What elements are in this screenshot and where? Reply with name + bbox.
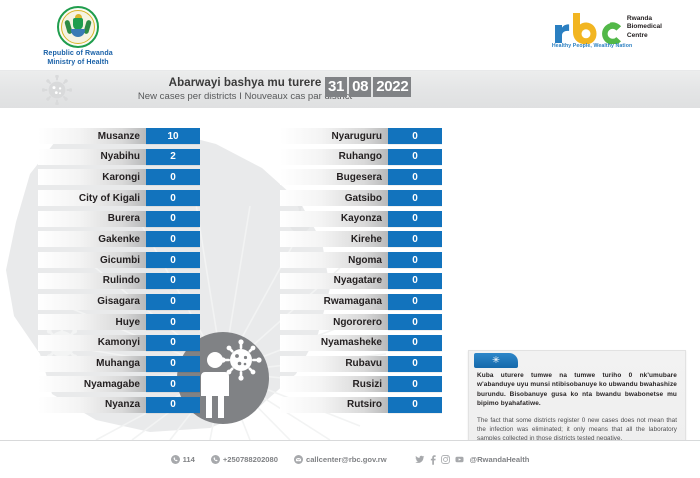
table-row[interactable]: Ruhango 0 [280, 149, 442, 165]
phone-icon [171, 455, 180, 464]
rbc-tagline: Healthy People, Wealthy Nation [552, 43, 632, 49]
main-content: Musanze 10 Nyabihu 2 Karongi 0 City of K… [0, 108, 700, 440]
district-value: 0 [146, 252, 200, 268]
district-name: Ngoma [280, 252, 388, 268]
district-name: Nyagatare [280, 273, 388, 289]
table-row[interactable]: Gicumbi 0 [38, 252, 200, 268]
district-value: 2 [146, 149, 200, 165]
table-row[interactable]: Nyamasheke 0 [280, 335, 442, 351]
table-row[interactable]: Rulindo 0 [38, 273, 200, 289]
table-row[interactable]: Nyabihu 2 [38, 149, 200, 165]
instagram-icon[interactable] [441, 455, 450, 464]
facebook-icon[interactable] [430, 455, 436, 465]
district-name: Nyamasheke [280, 335, 388, 351]
district-name: City of Kigali [38, 190, 146, 206]
social-links: @RwandaHealth [415, 455, 530, 465]
district-value: 0 [388, 356, 442, 372]
district-name: Ngororero [280, 314, 388, 330]
district-value: 0 [146, 314, 200, 330]
district-name: Muhanga [38, 356, 146, 372]
ministry-of-health-logo: Republic of Rwanda Ministry of Health [33, 6, 123, 67]
district-name: Nyabihu [38, 149, 146, 165]
table-row[interactable]: Gakenke 0 [38, 231, 200, 247]
rbc-logo-icon: Healthy People, Wealthy Nation [551, 12, 623, 50]
rbc-name-line3: Centre [627, 32, 662, 40]
table-row[interactable]: Kayonza 0 [280, 211, 442, 227]
rbc-logo: Healthy People, Wealthy Nation Rwanda Bi… [551, 12, 662, 58]
district-value: 0 [388, 190, 442, 206]
rbc-name: Rwanda Biomedical Centre [627, 12, 662, 40]
district-name: Gicumbi [38, 252, 146, 268]
table-row[interactable]: Burera 0 [38, 211, 200, 227]
table-row[interactable]: Rubavu 0 [280, 356, 442, 372]
district-value: 0 [388, 169, 442, 185]
phone-contact[interactable]: +250788202080 [211, 455, 278, 464]
table-row[interactable]: Kirehe 0 [280, 231, 442, 247]
table-row[interactable]: Nyanza 0 [38, 397, 200, 413]
table-row[interactable]: Ngororero 0 [280, 314, 442, 330]
table-row[interactable]: Karongi 0 [38, 169, 200, 185]
district-name: Rusizi [280, 376, 388, 392]
top-header: Republic of Rwanda Ministry of Health He… [0, 0, 700, 70]
asterisk-icon: ✳ [474, 353, 518, 368]
district-name: Gatsibo [280, 190, 388, 206]
republic-label: Republic of Rwanda [33, 49, 123, 58]
rbc-name-line2: Biomedical [627, 23, 662, 31]
district-value: 0 [388, 376, 442, 392]
date-day: 31 [325, 77, 347, 97]
coronavirus-icon [42, 75, 72, 105]
table-row[interactable]: Rusizi 0 [280, 376, 442, 392]
rbc-name-line1: Rwanda [627, 15, 662, 23]
district-name: Nyanza [38, 397, 146, 413]
district-name: Huye [38, 314, 146, 330]
date-year: 2022 [373, 77, 411, 97]
hotline-number: 114 [183, 455, 195, 464]
district-value: 0 [146, 294, 200, 310]
table-row[interactable]: Bugesera 0 [280, 169, 442, 185]
district-value: 0 [146, 231, 200, 247]
district-name: Gakenke [38, 231, 146, 247]
district-name: Gisagara [38, 294, 146, 310]
district-name: Karongi [38, 169, 146, 185]
district-name: Bugesera [280, 169, 388, 185]
district-value: 0 [388, 231, 442, 247]
district-value: 0 [146, 190, 200, 206]
social-handle: @RwandaHealth [470, 455, 530, 464]
report-date: 31 08 2022 [325, 77, 411, 97]
table-row[interactable]: Ngoma 0 [280, 252, 442, 268]
disclaimer-box: ✳ Kuba uturere tumwe na tumwe turiho 0 n… [468, 350, 686, 440]
email-address: callcenter@rbc.gov.rw [306, 455, 387, 464]
district-value: 0 [146, 356, 200, 372]
table-row[interactable]: Musanze 10 [38, 128, 200, 144]
district-value: 0 [146, 169, 200, 185]
district-value: 0 [388, 128, 442, 144]
district-name: Burera [38, 211, 146, 227]
table-row[interactable]: Kamonyi 0 [38, 335, 200, 351]
district-value: 0 [388, 149, 442, 165]
district-value: 0 [146, 335, 200, 351]
youtube-icon[interactable] [455, 455, 464, 464]
table-row[interactable]: City of Kigali 0 [38, 190, 200, 206]
date-month: 08 [349, 77, 371, 97]
district-column-left: Musanze 10 Nyabihu 2 Karongi 0 City of K… [38, 128, 200, 418]
table-row[interactable]: Huye 0 [38, 314, 200, 330]
district-name: Kamonyi [38, 335, 146, 351]
district-name: Rwamagana [280, 294, 388, 310]
district-value: 0 [388, 314, 442, 330]
district-value: 0 [146, 376, 200, 392]
footer-contact-bar: 114 +250788202080 [0, 440, 700, 478]
district-value: 0 [388, 252, 442, 268]
email-icon [294, 455, 303, 464]
district-value: 0 [388, 397, 442, 413]
table-row[interactable]: Nyamagabe 0 [38, 376, 200, 392]
district-name: Kayonza [280, 211, 388, 227]
phone-icon [211, 455, 220, 464]
district-name: Nyaruguru [280, 128, 388, 144]
phone-number: +250788202080 [223, 455, 278, 464]
table-row[interactable]: Rutsiro 0 [280, 397, 442, 413]
district-name: Kirehe [280, 231, 388, 247]
district-value: 0 [388, 273, 442, 289]
table-row[interactable]: Gisagara 0 [38, 294, 200, 310]
district-value: 0 [388, 335, 442, 351]
district-name: Ruhango [280, 149, 388, 165]
table-row[interactable]: Rwamagana 0 [280, 294, 442, 310]
district-name: Rubavu [280, 356, 388, 372]
table-row[interactable]: Nyaruguru 0 [280, 128, 442, 144]
hotline-contact[interactable]: 114 [171, 455, 195, 464]
table-row[interactable]: Gatsibo 0 [280, 190, 442, 206]
disclaimer-text-english: The fact that some districts register 0 … [477, 416, 677, 440]
district-column-right: Nyaruguru 0 Ruhango 0 Bugesera 0 Gatsibo… [280, 128, 442, 418]
district-name: Nyamagabe [38, 376, 146, 392]
rwanda-coat-of-arms-icon [57, 6, 99, 48]
district-value: 10 [146, 128, 200, 144]
district-value: 0 [146, 211, 200, 227]
district-value: 0 [388, 211, 442, 227]
district-value: 0 [146, 397, 200, 413]
table-row[interactable]: Muhanga 0 [38, 356, 200, 372]
disclaimer-text-kinyarwanda: Kuba uturere tumwe na tumwe turiho 0 nk'… [477, 371, 677, 409]
district-name: Rutsiro [280, 397, 388, 413]
twitter-icon[interactable] [415, 455, 425, 464]
infographic-page: Republic of Rwanda Ministry of Health He… [0, 0, 700, 478]
table-row[interactable]: Nyagatare 0 [280, 273, 442, 289]
email-contact[interactable]: callcenter@rbc.gov.rw [294, 455, 387, 464]
district-name: Musanze [38, 128, 146, 144]
district-value: 0 [388, 294, 442, 310]
district-name: Rulindo [38, 273, 146, 289]
district-value: 0 [146, 273, 200, 289]
ministry-label: Ministry of Health [33, 58, 123, 67]
